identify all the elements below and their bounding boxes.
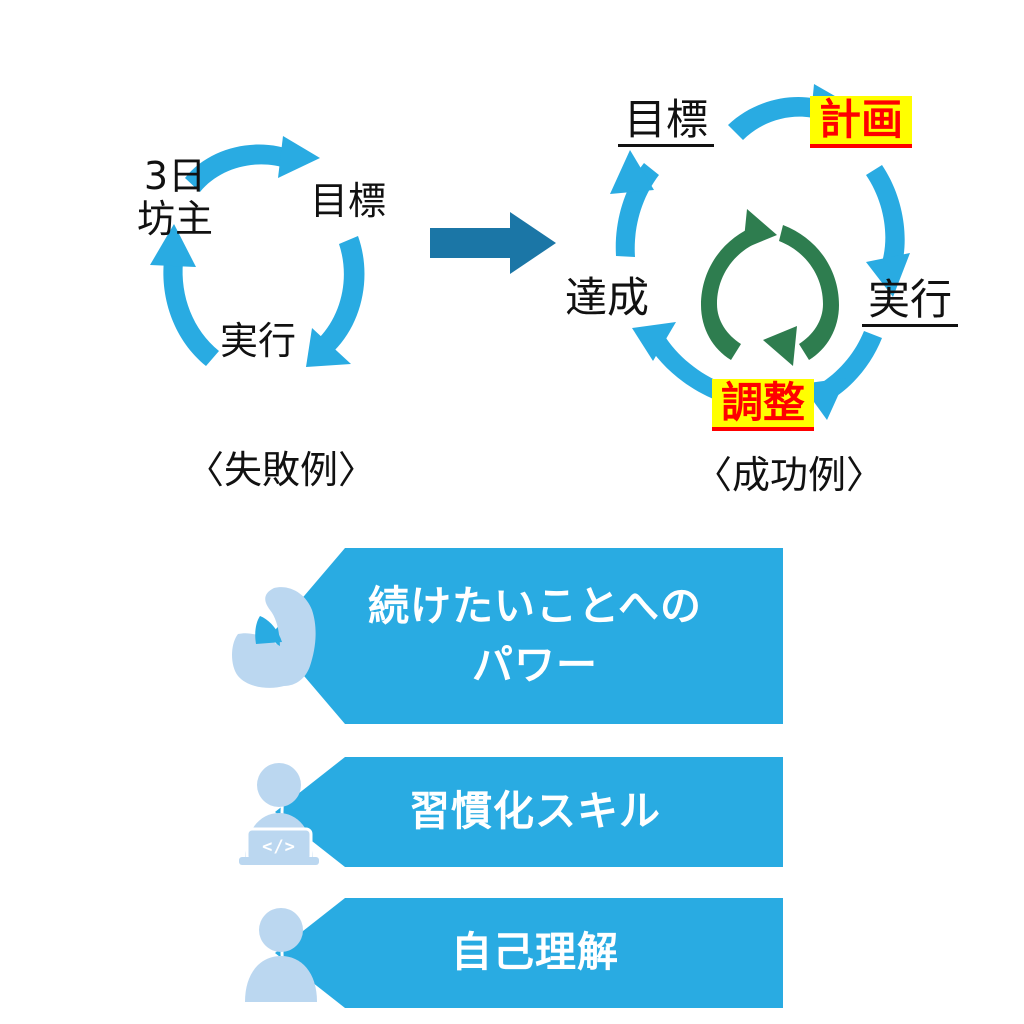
success-node-jikkou: 実行 [862, 276, 958, 327]
banner-power[interactable]: 続けたいことへの パワー [235, 548, 783, 724]
failure-node-jikkou: 実行 [210, 320, 306, 363]
success-arrow-left [610, 150, 659, 257]
banner-habit-skill[interactable]: </> 習慣化スキル [235, 757, 783, 867]
failure-arrow-right [306, 236, 364, 367]
success-cycle-caption: 〈成功例〉 [694, 444, 884, 499]
refresh-arc-left [701, 209, 777, 360]
success-node-mokuhyou: 目標 [618, 96, 714, 147]
diagram-canvas: 3日 坊主 目標 実行 〈失敗例〉 [0, 0, 1024, 1024]
failure-arrow-left [150, 224, 219, 366]
success-node-chousei: 調整 [712, 379, 814, 431]
refresh-arc-right [763, 225, 839, 366]
transition-right-arrow-icon [430, 212, 556, 274]
success-node-keikaku: 計画 [810, 96, 912, 148]
person-bust-icon [237, 904, 333, 1004]
success-node-tassei: 達成 [559, 274, 655, 321]
failure-node-mokuhyou: 目標 [300, 180, 396, 223]
person-laptop-code-icon: </> [235, 757, 337, 867]
banner-power-label: 続けたいことへの パワー [316, 577, 702, 696]
refresh-cycle-icon [695, 205, 845, 370]
failure-cycle-caption: 〈失敗例〉 [186, 439, 376, 494]
banner-habit-skill-label: 習慣化スキル [357, 782, 661, 841]
banner-self-understanding[interactable]: 自己理解 [235, 898, 783, 1008]
failure-node-mikkabouzu: 3日 坊主 [120, 155, 230, 240]
banner-self-understanding-label: 自己理解 [399, 923, 619, 982]
svg-text:</>: </> [262, 837, 296, 857]
